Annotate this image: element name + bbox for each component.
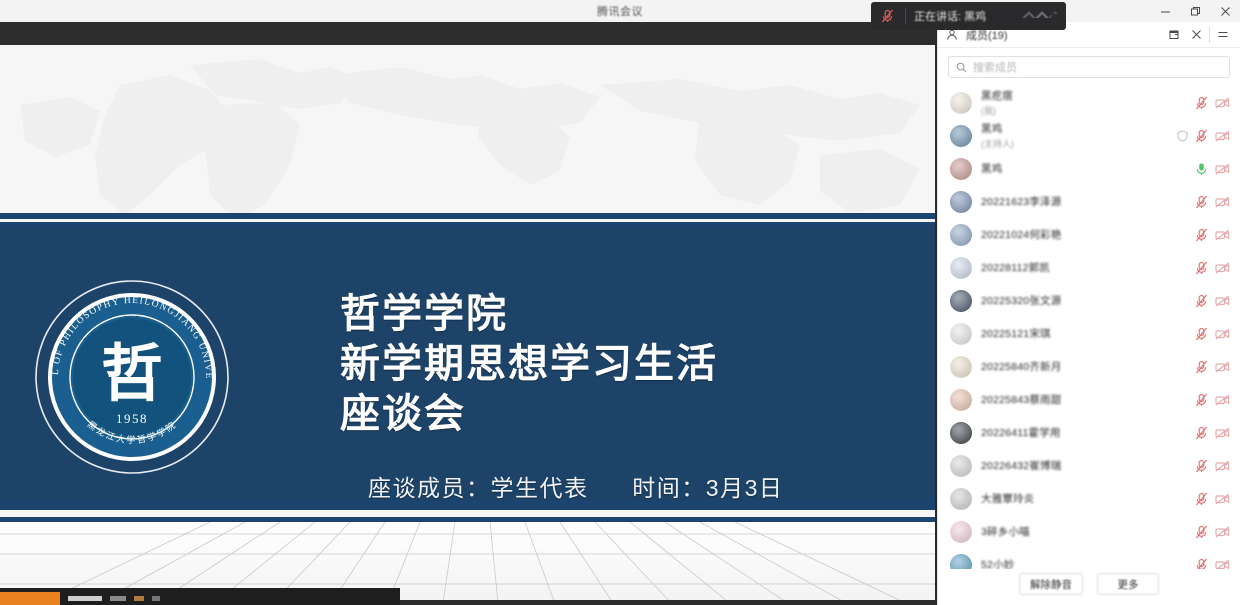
mic-muted-icon[interactable]	[1195, 228, 1208, 242]
participant-info: 20225840齐新月	[981, 359, 1195, 374]
slide-band-bottom-1	[0, 501, 935, 510]
mic-muted-icon[interactable]	[1195, 360, 1208, 374]
camera-off-icon[interactable]	[1215, 427, 1230, 439]
participant-role: (主持人)	[981, 137, 1177, 150]
more-button[interactable]: 更多	[1097, 573, 1159, 595]
camera-off-icon[interactable]	[1215, 361, 1230, 373]
participant-name: 52小妙	[981, 557, 1195, 569]
avatar	[950, 422, 972, 444]
search-icon	[956, 62, 967, 73]
camera-off-icon[interactable]	[1215, 493, 1230, 505]
participant-name: 大雅覃玲炎	[981, 491, 1195, 506]
svg-text:哲: 哲	[101, 341, 163, 409]
avatar	[950, 389, 972, 411]
slide-title-line-1: 哲学学院	[340, 289, 900, 339]
mic-muted-icon[interactable]	[1195, 525, 1208, 539]
hamburger-menu-icon[interactable]	[1212, 24, 1234, 46]
close-panel-icon[interactable]	[1185, 24, 1207, 46]
camera-off-icon[interactable]	[1215, 262, 1230, 274]
participant-row[interactable]: 3碎乡小喵	[938, 515, 1240, 548]
world-map-watermark	[0, 45, 935, 225]
university-emblem: SCHOOL OF PHILOSOPHY HEILONGJIANG UNIVER…	[32, 277, 232, 477]
participant-info: 3碎乡小喵	[981, 524, 1195, 539]
participant-info: 52小妙	[981, 557, 1195, 569]
taskbar-item-4[interactable]	[152, 596, 160, 601]
slide-band-top-1	[0, 213, 935, 219]
meeting-app-window: 腾讯会议	[0, 0, 1240, 605]
participant-status-icons	[1195, 327, 1230, 341]
taskbar	[0, 588, 400, 605]
participant-name: 20225843蔡雨甜	[981, 392, 1195, 407]
popout-icon[interactable]	[1163, 24, 1185, 46]
camera-off-icon[interactable]	[1215, 559, 1230, 570]
mute-all-button[interactable]: 解除静音	[1019, 573, 1083, 595]
participant-name: 20225320张文源	[981, 293, 1195, 308]
avatar	[950, 521, 972, 543]
participant-name: 黑鸡	[981, 161, 1195, 176]
participant-info: 20226411霍学用	[981, 425, 1195, 440]
participant-list[interactable]: 黑疙瘩(我) 黑鸡(主持人) 黑鸡 20221623李泽源 20221024何彩…	[938, 84, 1240, 569]
participant-row[interactable]: 大雅覃玲炎	[938, 482, 1240, 515]
avatar	[950, 488, 972, 510]
search-input[interactable]: 搜索成员	[948, 56, 1230, 78]
avatar	[950, 290, 972, 312]
tencent-meeting-logo-icon	[1016, 7, 1060, 25]
avatar	[950, 92, 972, 114]
mic-muted-icon[interactable]	[1195, 294, 1208, 308]
participant-row[interactable]: 20221024何彩艳	[938, 218, 1240, 251]
participant-info: 20225121宋琪	[981, 326, 1195, 341]
minimize-button[interactable]	[1150, 0, 1180, 22]
participant-status-icons	[1195, 96, 1230, 110]
mic-muted-icon[interactable]	[1195, 492, 1208, 506]
active-speaker-label: 正在讲话: 黑鸡	[914, 8, 1016, 24]
taskbar-item-3[interactable]	[134, 596, 144, 601]
participant-status-icons	[1195, 261, 1230, 275]
participant-row[interactable]: 20225840齐新月	[938, 350, 1240, 383]
participant-row[interactable]: 黑疙瘩(我)	[938, 86, 1240, 119]
participant-name: 20221623李泽源	[981, 194, 1195, 209]
mic-muted-icon[interactable]	[1195, 195, 1208, 209]
slide-title: 哲学学院 新学期思想学习生活 座谈会	[340, 289, 900, 439]
participant-info: 黑鸡(主持人)	[981, 121, 1177, 150]
participant-row[interactable]: 黑鸡	[938, 152, 1240, 185]
participant-name: 20225840齐新月	[981, 359, 1195, 374]
participant-name: 20226411霍学用	[981, 425, 1195, 440]
camera-off-icon[interactable]	[1215, 196, 1230, 208]
avatar	[950, 554, 972, 570]
avatar	[950, 125, 972, 147]
taskbar-app-icon[interactable]	[0, 592, 60, 605]
camera-off-icon[interactable]	[1215, 130, 1230, 142]
participant-name: 20225121宋琪	[981, 326, 1195, 341]
slide-title-line-2: 新学期思想学习生活	[340, 339, 900, 389]
camera-off-icon[interactable]	[1215, 97, 1230, 109]
mic-muted-icon[interactable]	[1195, 558, 1208, 570]
participant-role: (我)	[981, 104, 1195, 117]
participant-info: 20221623李泽源	[981, 194, 1195, 209]
close-button[interactable]	[1210, 0, 1240, 22]
participant-status-icons	[1195, 294, 1230, 308]
search-placeholder: 搜索成员	[973, 59, 1017, 75]
participant-status-icons	[1195, 162, 1230, 176]
header-divider	[1209, 27, 1210, 43]
participant-row[interactable]: 20226411霍学用	[938, 416, 1240, 449]
avatar	[950, 323, 972, 345]
participant-info: 20221024何彩艳	[981, 227, 1195, 242]
participant-info: 黑鸡	[981, 161, 1195, 176]
app-title: 腾讯会议	[597, 3, 643, 19]
participant-name: 20228112郭凯	[981, 260, 1195, 275]
participant-status-icons	[1195, 393, 1230, 407]
presentation-slide: SCHOOL OF PHILOSOPHY HEILONGJIANG UNIVER…	[0, 45, 935, 600]
participant-status-icons	[1195, 492, 1230, 506]
taskbar-item-1[interactable]	[68, 596, 102, 601]
avatar	[950, 455, 972, 477]
camera-off-icon[interactable]	[1215, 460, 1230, 472]
mic-muted-icon[interactable]	[1195, 459, 1208, 473]
slide-subtitle: 座谈成员：学生代表 时间：3月3日	[368, 469, 783, 503]
participant-name: 20221024何彩艳	[981, 227, 1195, 242]
participant-status-icons	[1195, 525, 1230, 539]
participant-status-icons	[1195, 558, 1230, 570]
participant-status-icons	[1195, 459, 1230, 473]
participant-info: 大雅覃玲炎	[981, 491, 1195, 506]
mic-active-icon[interactable]	[1195, 162, 1208, 176]
participant-name: 20226432崔博瑞	[981, 458, 1195, 473]
mic-muted-icon[interactable]	[1195, 426, 1208, 440]
shared-screen-stage: SCHOOL OF PHILOSOPHY HEILONGJIANG UNIVER…	[0, 22, 935, 605]
avatar	[950, 257, 972, 279]
participant-name: 黑疙瘩	[981, 88, 1195, 103]
camera-off-icon[interactable]	[1215, 526, 1230, 538]
participant-status-icons	[1195, 195, 1230, 209]
avatar	[950, 158, 972, 180]
active-speaker-pill[interactable]: 正在讲话: 黑鸡	[871, 2, 1066, 30]
svg-text:1958: 1958	[116, 411, 148, 426]
panel-search-area: 搜索成员	[938, 48, 1240, 84]
avatar	[950, 191, 972, 213]
stage-top-letterbox	[0, 22, 935, 45]
participant-info: 20228112郭凯	[981, 260, 1195, 275]
avatar	[950, 224, 972, 246]
mic-muted-icon[interactable]	[1195, 327, 1208, 341]
mic-muted-icon[interactable]	[1195, 393, 1208, 407]
participant-info: 20225320张文源	[981, 293, 1195, 308]
participants-panel: 成员(19)	[937, 22, 1240, 605]
participant-row[interactable]: 20225121宋琪	[938, 317, 1240, 350]
participant-row[interactable]: 20225320张文源	[938, 284, 1240, 317]
participant-row[interactable]: 20226432崔博瑞	[938, 449, 1240, 482]
participant-row[interactable]: 20221623李泽源	[938, 185, 1240, 218]
slide-title-line-3: 座谈会	[340, 389, 900, 439]
participant-row[interactable]: 20225843蔡雨甜	[938, 383, 1240, 416]
members-icon	[946, 29, 962, 41]
participant-status-icons	[1195, 426, 1230, 440]
participant-name: 黑鸡	[981, 121, 1177, 136]
camera-off-icon[interactable]	[1215, 295, 1230, 307]
slide-subtitle-time: 时间：3月3日	[632, 475, 783, 501]
participant-row[interactable]: 52小妙	[938, 548, 1240, 569]
participant-info: 20226432崔博瑞	[981, 458, 1195, 473]
participant-info: 20225843蔡雨甜	[981, 392, 1195, 407]
taskbar-item-2[interactable]	[110, 596, 126, 601]
camera-off-icon[interactable]	[1215, 229, 1230, 241]
host-shield-icon	[1177, 130, 1188, 142]
participant-name: 3碎乡小喵	[981, 524, 1195, 539]
avatar	[950, 356, 972, 378]
participant-row[interactable]: 20228112郭凯	[938, 251, 1240, 284]
panel-footer: 解除静音 更多	[938, 569, 1240, 605]
participant-status-icons	[1195, 360, 1230, 374]
participant-info: 黑疙瘩(我)	[981, 88, 1195, 117]
camera-off-icon[interactable]	[1215, 394, 1230, 406]
participant-status-icons	[1177, 129, 1230, 143]
mic-muted-icon[interactable]	[1195, 261, 1208, 275]
restore-button[interactable]	[1180, 0, 1210, 22]
participant-row[interactable]: 黑鸡(主持人)	[938, 119, 1240, 152]
participant-status-icons	[1195, 228, 1230, 242]
mic-muted-icon	[877, 9, 897, 23]
camera-off-icon[interactable]	[1215, 163, 1230, 175]
window-controls	[1150, 0, 1240, 22]
camera-off-icon[interactable]	[1215, 328, 1230, 340]
mic-muted-icon[interactable]	[1195, 129, 1208, 143]
slide-subtitle-members: 座谈成员：学生代表	[368, 475, 589, 501]
mic-muted-icon[interactable]	[1195, 96, 1208, 110]
